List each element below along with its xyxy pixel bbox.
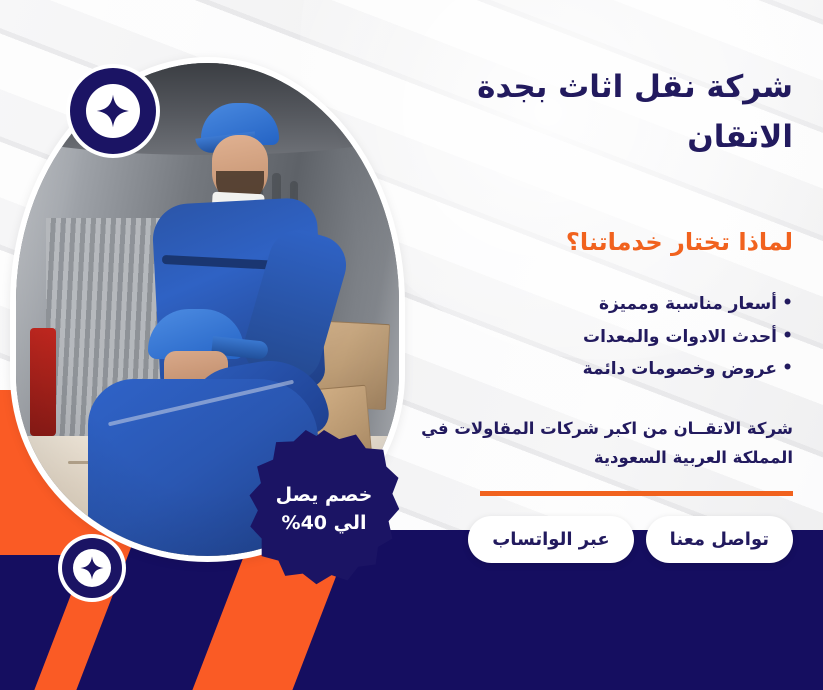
orange-divider xyxy=(480,491,793,496)
logo-badge-top xyxy=(70,68,156,154)
features-list: أسعار مناسبة ومميزة أحدث الادوات والمعدا… xyxy=(418,288,793,386)
navy-bottom-band xyxy=(0,555,823,690)
four-point-star-icon xyxy=(96,94,130,128)
about-paragraph: شركة الاتقــان من اكبر شركات المقاولات ف… xyxy=(418,414,793,473)
content-column: شركة نقل اثاث بجدة الاتقان لماذا تختار خ… xyxy=(418,62,793,563)
logo-badge-bottom xyxy=(62,538,122,598)
cta-button-row: تواصل معنا عبر الواتساب xyxy=(418,516,793,563)
starburst-shape-icon xyxy=(248,428,400,590)
list-item: أسعار مناسبة ومميزة xyxy=(418,288,793,321)
discount-badge: خصم يصل الي 40% xyxy=(248,428,400,590)
page-title: شركة نقل اثاث بجدة الاتقان xyxy=(418,62,793,162)
list-item: أحدث الادوات والمعدات xyxy=(418,321,793,354)
promo-banner: خصم يصل الي 40% شركة نقل اثاث بجدة الاتق… xyxy=(0,0,823,690)
whatsapp-button[interactable]: عبر الواتساب xyxy=(468,516,633,563)
list-item: عروض وخصومات دائمة xyxy=(418,353,793,386)
section-subheading: لماذا تختار خدماتنا؟ xyxy=(418,226,793,260)
logo-inner-circle xyxy=(73,549,111,587)
four-point-star-icon xyxy=(80,556,104,580)
contact-us-button[interactable]: تواصل معنا xyxy=(646,516,793,563)
logo-inner-circle xyxy=(86,84,140,138)
